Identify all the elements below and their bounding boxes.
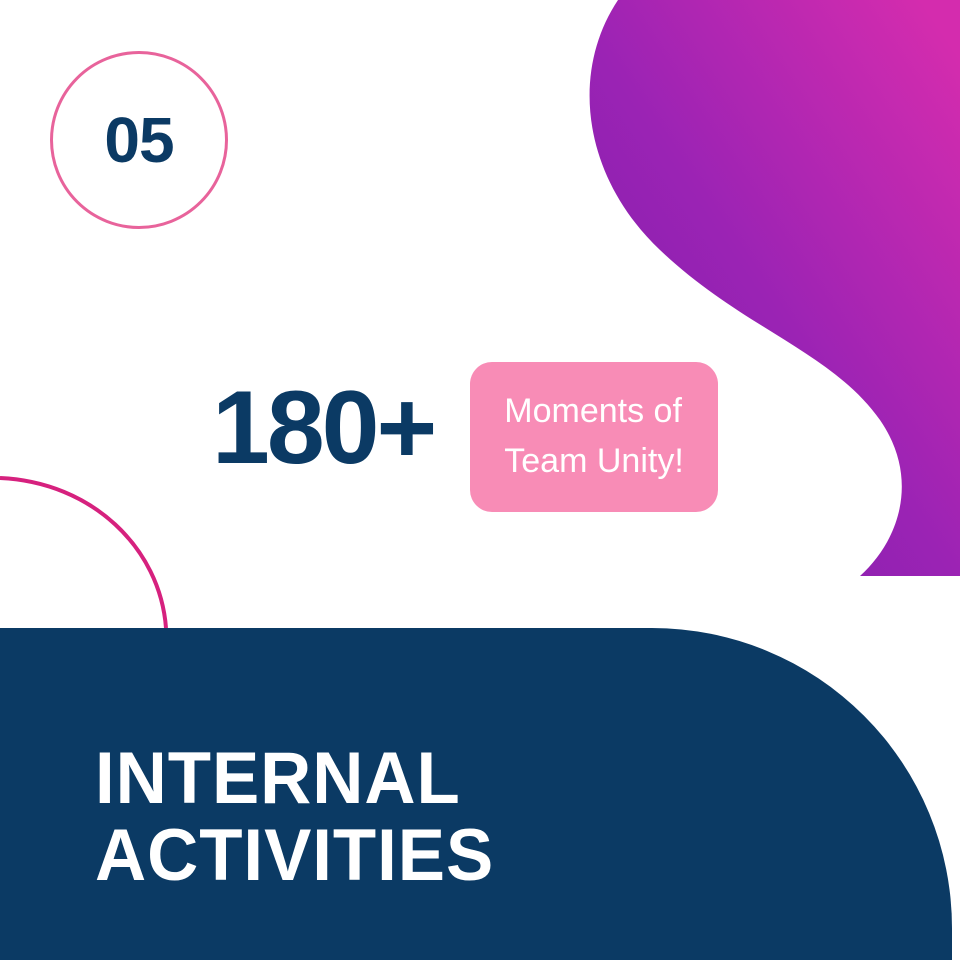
arc-stroke bbox=[0, 478, 166, 628]
stat-value: 180+ bbox=[212, 376, 434, 480]
footer-title: INTERNAL ACTIVITIES bbox=[95, 740, 494, 894]
footer-title-line-1: INTERNAL bbox=[95, 740, 494, 817]
footer-title-line-2: ACTIVITIES bbox=[95, 817, 494, 894]
stat-pill-line-2: Team Unity! bbox=[504, 436, 684, 486]
stat-row: 180+ Moments of Team Unity! bbox=[212, 362, 718, 512]
number-badge-value: 05 bbox=[50, 51, 228, 229]
stat-pill-line-1: Moments of bbox=[504, 386, 684, 436]
poster-canvas: 05 180+ Moments of Team Unity! INTERNAL … bbox=[0, 0, 960, 960]
stat-pill: Moments of Team Unity! bbox=[470, 362, 718, 512]
